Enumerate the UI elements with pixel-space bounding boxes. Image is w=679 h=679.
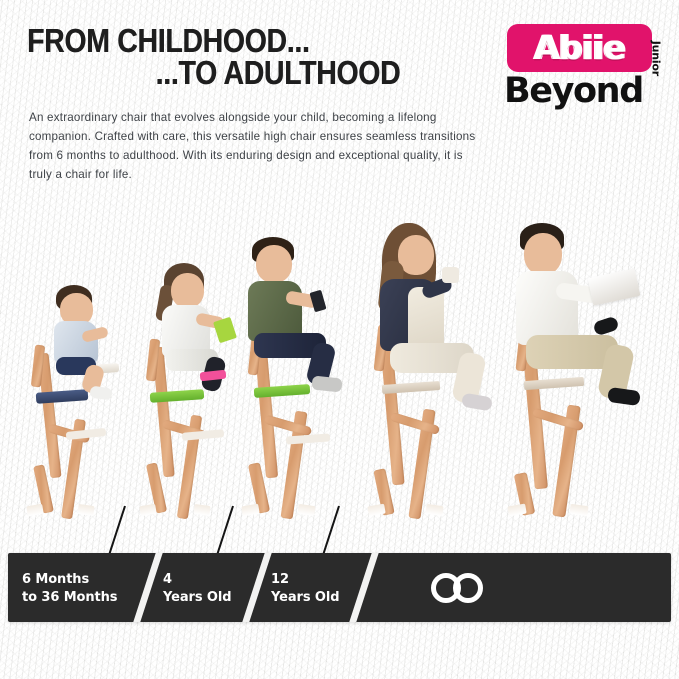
product-lifestyle-photo <box>0 205 679 515</box>
figure-man <box>470 223 670 515</box>
timeline-segment-label-1: 6 Months to 36 Months <box>22 571 117 608</box>
smartphone <box>309 290 326 313</box>
coffee-mug <box>442 267 459 283</box>
page-title: FROM CHILDHOOD... ...TO ADULTHOOD <box>27 25 405 90</box>
torso-man <box>516 271 578 345</box>
infinity-icon <box>431 573 495 603</box>
headline-line-2: ...TO ADULTHOOD <box>27 57 405 89</box>
abiie-badge: Abiie <box>507 24 652 72</box>
timeline-segment-label-2: 4 Years Old <box>163 571 231 608</box>
header-section: FROM CHILDHOOD... ...TO ADULTHOOD An ext… <box>0 0 679 210</box>
brand-logo: Abiie Beyond Junior <box>499 24 665 128</box>
person-man <box>498 223 668 403</box>
headline-line-1: FROM CHILDHOOD... <box>27 25 405 57</box>
open-book <box>588 268 641 305</box>
timeline-separator-3 <box>344 553 383 622</box>
torso-school-child <box>248 281 302 341</box>
abiie-wordmark: Abiie <box>534 31 625 64</box>
brand-subline: Beyond Junior <box>499 74 665 120</box>
timeline-separator-1 <box>128 553 167 622</box>
beyond-wordmark: Beyond <box>504 74 643 109</box>
body-paragraph: An extraordinary chair that evolves alon… <box>29 109 489 185</box>
junior-wordmark: Junior <box>649 41 662 76</box>
infinity-ring-right <box>453 573 483 603</box>
product-infographic: FROM CHILDHOOD... ...TO ADULTHOOD An ext… <box>0 0 679 679</box>
age-timeline-bar: 6 Months to 36 Months 4 Years Old 12 Yea… <box>8 553 671 622</box>
timeline-segment-label-3: 12 Years Old <box>271 571 339 608</box>
